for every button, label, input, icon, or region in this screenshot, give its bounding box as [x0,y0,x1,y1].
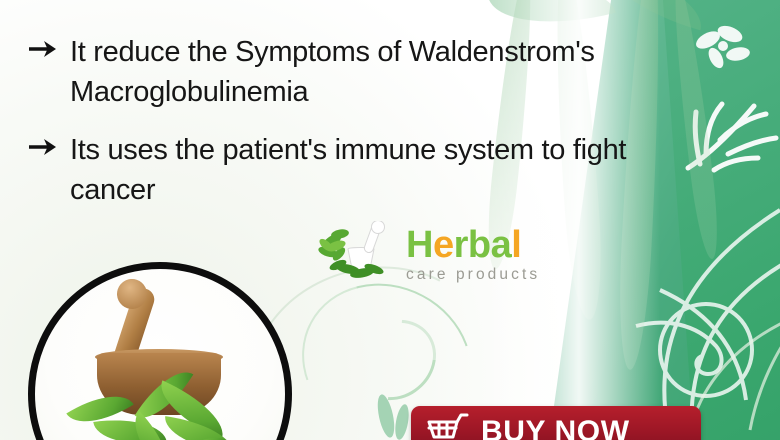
mortar-pestle-herbs-icon [318,221,404,287]
shopping-cart-icon [427,413,469,440]
logo-wordmark: Herbal [406,226,540,264]
logo-letters-rba: rba [454,224,512,266]
list-item: Its uses the patient's immune system to … [24,130,714,210]
buy-now-button[interactable]: BUY NOW [411,406,701,440]
logo-letter-e: e [433,224,454,266]
brand-logo[interactable]: Herbal care products [318,218,540,290]
list-item: It reduce the Symptoms of Waldenstrom's … [24,32,714,112]
arrow-right-icon [24,32,70,68]
logo-letter-h: H [406,224,433,266]
logo-tagline: care products [406,267,540,283]
logo-text: Herbal care products [406,226,540,283]
logo-letter-l: l [511,224,521,266]
benefit-text-1: It reduce the Symptoms of Waldenstrom's … [70,32,714,112]
benefit-text-2: Its uses the patient's immune system to … [70,130,714,210]
buy-now-label: BUY NOW [481,417,630,440]
herbal-care-products-banner: It reduce the Symptoms of Waldenstrom's … [0,0,780,440]
benefits-list: It reduce the Symptoms of Waldenstrom's … [24,32,714,228]
arrow-right-icon [24,130,70,166]
